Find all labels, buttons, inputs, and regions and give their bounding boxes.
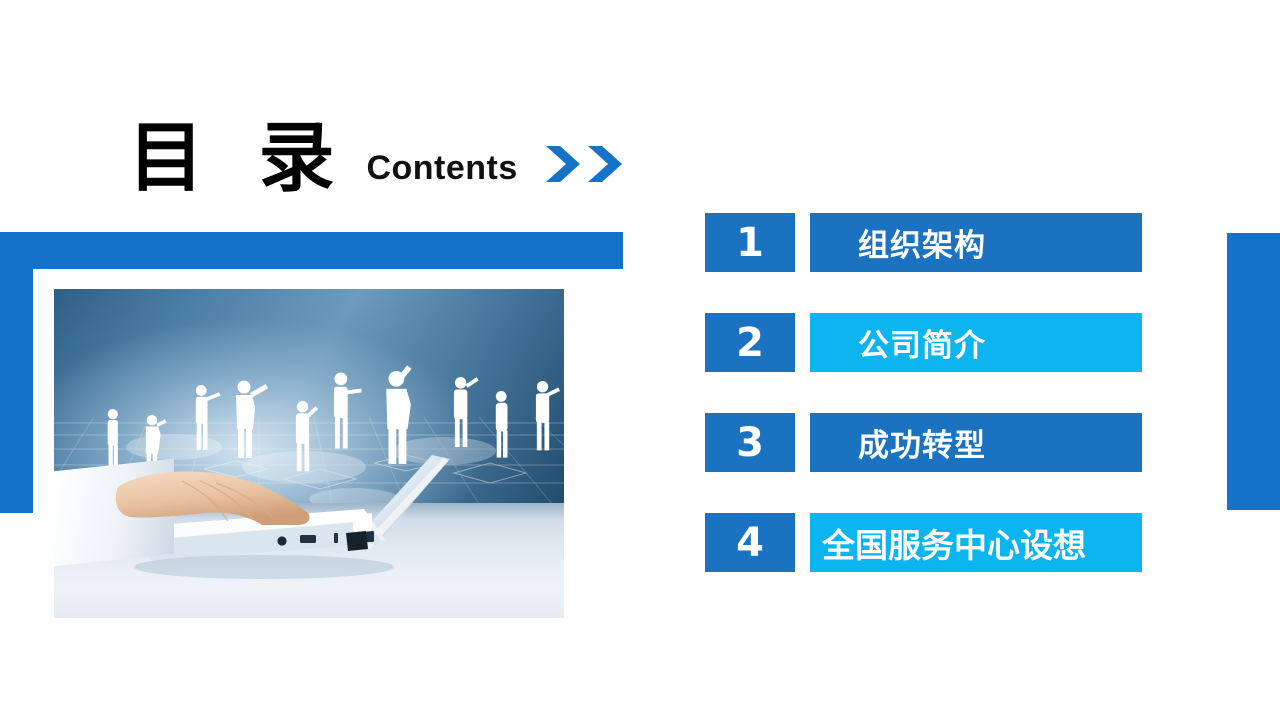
menu-item-1-gap [795, 213, 810, 272]
menu-item-1[interactable]: 1 组织架构 [705, 213, 1142, 272]
menu-item-4[interactable]: 4 全国服务中心设想 [705, 513, 1142, 572]
menu-item-4-label: 全国服务中心设想 [810, 513, 1142, 572]
title-english: Contents [366, 149, 517, 188]
right-accent-bar [1227, 233, 1280, 510]
menu-item-3[interactable]: 3 成功转型 [705, 413, 1142, 472]
menu-item-4-gap [795, 513, 810, 572]
title-chinese: 目 录 [128, 118, 348, 198]
cover-photo [54, 289, 564, 618]
menu-item-4-number: 4 [705, 513, 795, 572]
menu-item-1-number: 1 [705, 213, 795, 272]
menu-item-2-number: 2 [705, 313, 795, 372]
double-chevron-right-icon [546, 144, 624, 184]
slide-root: 目 录 Contents [0, 0, 1280, 720]
hand-typing-icon [112, 467, 327, 547]
menu-item-2[interactable]: 2 公司简介 [705, 313, 1142, 372]
contents-menu: 1 组织架构 2 公司简介 3 成功转型 4 全国服务中心设想 [705, 213, 1142, 572]
menu-item-2-gap [795, 313, 810, 372]
menu-item-3-gap [795, 413, 810, 472]
menu-item-2-label: 公司简介 [810, 313, 1142, 372]
menu-item-3-number: 3 [705, 413, 795, 472]
menu-item-1-label: 组织架构 [810, 213, 1142, 272]
page-title: 目 录 Contents [128, 108, 624, 198]
menu-item-3-label: 成功转型 [810, 413, 1142, 472]
